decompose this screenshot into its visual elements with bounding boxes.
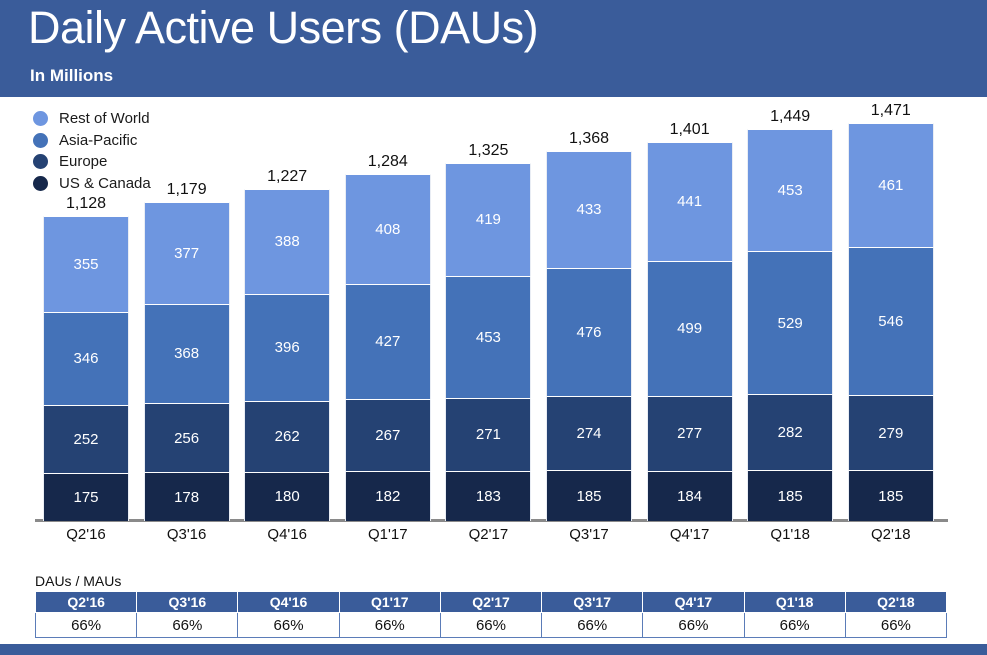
bar-segment-value: 271 xyxy=(476,426,501,443)
bar-stack: 453529282185 xyxy=(747,129,833,521)
bar-group[interactable]: 1,227388396262180Q4'16 xyxy=(244,189,330,521)
chart-legend: Rest of WorldAsia-PacificEuropeUS & Cana… xyxy=(33,108,151,194)
table-cell-ratio: 66% xyxy=(36,613,137,638)
bar-segment[interactable]: 271 xyxy=(445,398,531,471)
legend-item: Europe xyxy=(33,151,151,173)
legend-item-label: US & Canada xyxy=(59,175,151,192)
bar-stack: 433476274185 xyxy=(546,151,632,521)
bar-segment[interactable]: 262 xyxy=(244,401,330,472)
bar-segment[interactable]: 184 xyxy=(647,471,733,521)
bar-segment-value: 185 xyxy=(878,488,903,505)
footer-strip xyxy=(0,644,987,655)
bar-segment-value: 546 xyxy=(878,313,903,330)
bar-segment[interactable]: 377 xyxy=(144,202,230,304)
dau-mau-caption: DAUs / MAUs xyxy=(35,573,947,589)
bar-segment[interactable]: 433 xyxy=(546,151,632,268)
table-cell-ratio: 66% xyxy=(744,613,845,638)
table-column-header: Q4'17 xyxy=(643,592,744,613)
bar-segment[interactable]: 546 xyxy=(848,247,934,394)
bar-segment[interactable]: 396 xyxy=(244,294,330,401)
bar-group[interactable]: 1,179377368256178Q3'16 xyxy=(144,202,230,521)
bar-segment[interactable]: 427 xyxy=(345,284,431,399)
table-column-header: Q3'16 xyxy=(137,592,238,613)
bar-segment[interactable]: 183 xyxy=(445,471,531,521)
page-title: Daily Active Users (DAUs) xyxy=(28,2,538,54)
bar-segment[interactable]: 175 xyxy=(43,473,129,521)
dau-mau-table: Q2'16Q3'16Q4'16Q1'17Q2'17Q3'17Q4'17Q1'18… xyxy=(35,591,947,638)
legend-item-label: Asia-Pacific xyxy=(59,132,137,149)
bar-segment[interactable]: 252 xyxy=(43,405,129,473)
bar-segment[interactable]: 185 xyxy=(546,470,632,521)
bar-group[interactable]: 1,325419453271183Q2'17 xyxy=(445,163,531,521)
bar-segment[interactable]: 185 xyxy=(747,470,833,521)
bar-segment[interactable]: 408 xyxy=(345,174,431,284)
bar-stack: 441499277184 xyxy=(647,142,733,521)
table-cell-ratio: 66% xyxy=(238,613,339,638)
bar-segment[interactable]: 185 xyxy=(848,470,934,521)
bar-stack: 377368256178 xyxy=(144,202,230,521)
bar-segment-value: 408 xyxy=(375,221,400,238)
bar-segment-value: 262 xyxy=(275,428,300,445)
bar-segment-value: 377 xyxy=(174,245,199,262)
bar-segment-value: 279 xyxy=(878,425,903,442)
bar-segment[interactable]: 476 xyxy=(546,268,632,396)
bar-segment[interactable]: 499 xyxy=(647,261,733,396)
bar-total-label: 1,368 xyxy=(546,130,632,148)
table-cell-ratio: 66% xyxy=(440,613,541,638)
x-axis-tick-label: Q2'18 xyxy=(848,526,934,543)
bar-segment[interactable]: 453 xyxy=(445,276,531,398)
bar-segment-value: 427 xyxy=(375,333,400,350)
dau-mau-section: DAUs / MAUs Q2'16Q3'16Q4'16Q1'17Q2'17Q3'… xyxy=(35,573,947,638)
bar-segment-value: 277 xyxy=(677,425,702,442)
bar-segment[interactable]: 182 xyxy=(345,471,431,521)
bar-total-label: 1,179 xyxy=(144,181,230,199)
legend-item: Rest of World xyxy=(33,108,151,130)
bar-total-label: 1,471 xyxy=(848,102,934,120)
table-column-header: Q1'17 xyxy=(339,592,440,613)
table-row: 66%66%66%66%66%66%66%66%66% xyxy=(36,613,947,638)
legend-swatch-icon xyxy=(33,133,48,148)
bar-segment-value: 267 xyxy=(375,427,400,444)
bar-segment[interactable]: 453 xyxy=(747,129,833,251)
bar-segment-value: 183 xyxy=(476,488,501,505)
table-column-header: Q1'18 xyxy=(744,592,845,613)
bar-segment-value: 499 xyxy=(677,320,702,337)
bar-segment-value: 252 xyxy=(73,431,98,448)
bar-segment-value: 453 xyxy=(476,329,501,346)
bar-group[interactable]: 1,368433476274185Q3'17 xyxy=(546,151,632,521)
bar-segment-value: 453 xyxy=(778,182,803,199)
legend-item: Asia-Pacific xyxy=(33,130,151,152)
header-banner: Daily Active Users (DAUs) In Millions xyxy=(0,0,987,97)
bar-total-label: 1,449 xyxy=(747,108,833,126)
bar-segment-value: 185 xyxy=(778,488,803,505)
bar-group[interactable]: 1,284408427267182Q1'17 xyxy=(345,174,431,521)
legend-item-label: Rest of World xyxy=(59,110,150,127)
x-axis-tick-label: Q1'17 xyxy=(345,526,431,543)
bar-segment-value: 256 xyxy=(174,430,199,447)
x-axis-tick-label: Q2'17 xyxy=(445,526,531,543)
bar-segment-value: 529 xyxy=(778,315,803,332)
x-axis-tick-label: Q3'16 xyxy=(144,526,230,543)
bar-segment[interactable]: 267 xyxy=(345,399,431,471)
bar-segment-value: 476 xyxy=(576,324,601,341)
table-cell-ratio: 66% xyxy=(137,613,238,638)
bar-segment-value: 184 xyxy=(677,488,702,505)
bar-segment[interactable]: 256 xyxy=(144,403,230,472)
table-header-row: Q2'16Q3'16Q4'16Q1'17Q2'17Q3'17Q4'17Q1'18… xyxy=(36,592,947,613)
table-column-header: Q2'17 xyxy=(440,592,541,613)
table-cell-ratio: 66% xyxy=(643,613,744,638)
page-subtitle: In Millions xyxy=(30,66,113,86)
bar-total-label: 1,401 xyxy=(647,121,733,139)
bar-segment[interactable]: 274 xyxy=(546,396,632,470)
table-column-header: Q4'16 xyxy=(238,592,339,613)
bar-segment[interactable]: 355 xyxy=(43,216,129,312)
bar-segment-value: 175 xyxy=(73,489,98,506)
bar-total-label: 1,128 xyxy=(43,195,129,213)
bar-segment-value: 388 xyxy=(275,233,300,250)
bar-segment-value: 180 xyxy=(275,488,300,505)
table-cell-ratio: 66% xyxy=(845,613,946,638)
bar-segment[interactable]: 441 xyxy=(647,142,733,261)
bar-segment[interactable]: 529 xyxy=(747,251,833,394)
x-axis-tick-label: Q4'17 xyxy=(647,526,733,543)
bar-segment[interactable]: 277 xyxy=(647,396,733,471)
bar-segment[interactable]: 419 xyxy=(445,163,531,276)
table-column-header: Q2'16 xyxy=(36,592,137,613)
bar-segment[interactable]: 180 xyxy=(244,472,330,521)
legend-swatch-icon xyxy=(33,111,48,126)
bar-segment-value: 396 xyxy=(275,339,300,356)
bar-segment[interactable]: 388 xyxy=(244,189,330,294)
table-column-header: Q2'18 xyxy=(845,592,946,613)
bar-total-label: 1,325 xyxy=(445,142,531,160)
bar-segment-value: 178 xyxy=(174,489,199,506)
bar-segment-value: 441 xyxy=(677,193,702,210)
bar-group[interactable]: 1,401441499277184Q4'17 xyxy=(647,142,733,521)
bar-segment-value: 282 xyxy=(778,424,803,441)
bar-group[interactable]: 1,449453529282185Q1'18 xyxy=(747,129,833,521)
bar-group[interactable]: 1,471461546279185Q2'18 xyxy=(848,123,934,521)
bar-stack: 461546279185 xyxy=(848,123,934,521)
bar-segment[interactable]: 178 xyxy=(144,472,230,521)
legend-swatch-icon xyxy=(33,176,48,191)
x-axis-tick-label: Q4'16 xyxy=(244,526,330,543)
legend-item: US & Canada xyxy=(33,173,151,195)
bar-segment[interactable]: 346 xyxy=(43,312,129,405)
bar-total-label: 1,284 xyxy=(345,153,431,171)
table-cell-ratio: 66% xyxy=(542,613,643,638)
bar-segment-value: 274 xyxy=(576,425,601,442)
bar-segment[interactable]: 461 xyxy=(848,123,934,247)
bar-segment[interactable]: 279 xyxy=(848,395,934,471)
x-axis-tick-label: Q1'18 xyxy=(747,526,833,543)
table-cell-ratio: 66% xyxy=(339,613,440,638)
bar-segment[interactable]: 282 xyxy=(747,394,833,471)
bar-group[interactable]: 1,128355346252175Q2'16 xyxy=(43,216,129,521)
bar-segment-value: 182 xyxy=(375,488,400,505)
bar-segment-value: 355 xyxy=(73,256,98,273)
bar-segment-value: 368 xyxy=(174,345,199,362)
x-axis-tick-label: Q3'17 xyxy=(546,526,632,543)
bar-segment-value: 346 xyxy=(73,350,98,367)
bar-stack: 388396262180 xyxy=(244,189,330,521)
bar-segment-value: 185 xyxy=(576,488,601,505)
legend-item-label: Europe xyxy=(59,153,107,170)
table-column-header: Q3'17 xyxy=(542,592,643,613)
legend-swatch-icon xyxy=(33,154,48,169)
bar-segment[interactable]: 368 xyxy=(144,304,230,403)
bar-stack: 408427267182 xyxy=(345,174,431,521)
bar-stack: 419453271183 xyxy=(445,163,531,521)
x-axis-tick-label: Q2'16 xyxy=(43,526,129,543)
bar-total-label: 1,227 xyxy=(244,168,330,186)
bar-stack: 355346252175 xyxy=(43,216,129,521)
bar-segment-value: 461 xyxy=(878,177,903,194)
bar-segment-value: 419 xyxy=(476,211,501,228)
bar-segment-value: 433 xyxy=(576,201,601,218)
